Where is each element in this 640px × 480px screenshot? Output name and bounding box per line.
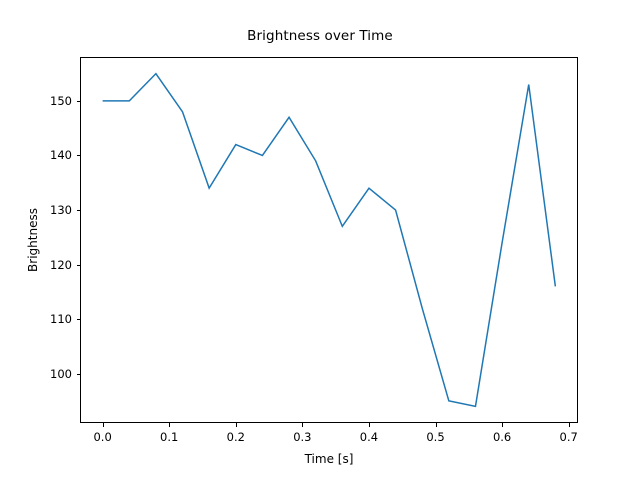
y-tick-mark xyxy=(77,265,81,266)
y-tick-mark xyxy=(77,210,81,211)
x-tick-label: 0.1 xyxy=(160,430,178,444)
x-tick-label: 0.3 xyxy=(293,430,311,444)
x-tick-mark xyxy=(236,423,237,427)
x-tick-mark xyxy=(436,423,437,427)
chart-title: Brightness over Time xyxy=(0,28,640,44)
y-tick-mark xyxy=(77,101,81,102)
y-tick-mark xyxy=(77,155,81,156)
x-tick-label: 0.5 xyxy=(426,430,444,444)
x-axis-label: Time [s] xyxy=(80,452,578,466)
y-axis-label: Brightness xyxy=(26,57,42,423)
matplotlib-figure: Brightness over Time 100110120130140150 … xyxy=(0,0,640,480)
x-tick-label: 0.6 xyxy=(493,430,511,444)
x-tick-mark xyxy=(103,423,104,427)
x-tick-mark xyxy=(302,423,303,427)
x-tick-label: 0.2 xyxy=(227,430,245,444)
line-chart-canvas xyxy=(80,57,578,423)
x-tick-label: 0.0 xyxy=(93,430,111,444)
brightness-series-line xyxy=(103,74,556,407)
x-tick-mark xyxy=(169,423,170,427)
x-tick-label: 0.4 xyxy=(360,430,378,444)
y-tick-mark xyxy=(77,319,81,320)
y-tick-mark xyxy=(77,374,81,375)
x-tick-mark xyxy=(569,423,570,427)
x-tick-mark xyxy=(369,423,370,427)
x-tick-label: 0.7 xyxy=(560,430,578,444)
x-tick-mark xyxy=(502,423,503,427)
